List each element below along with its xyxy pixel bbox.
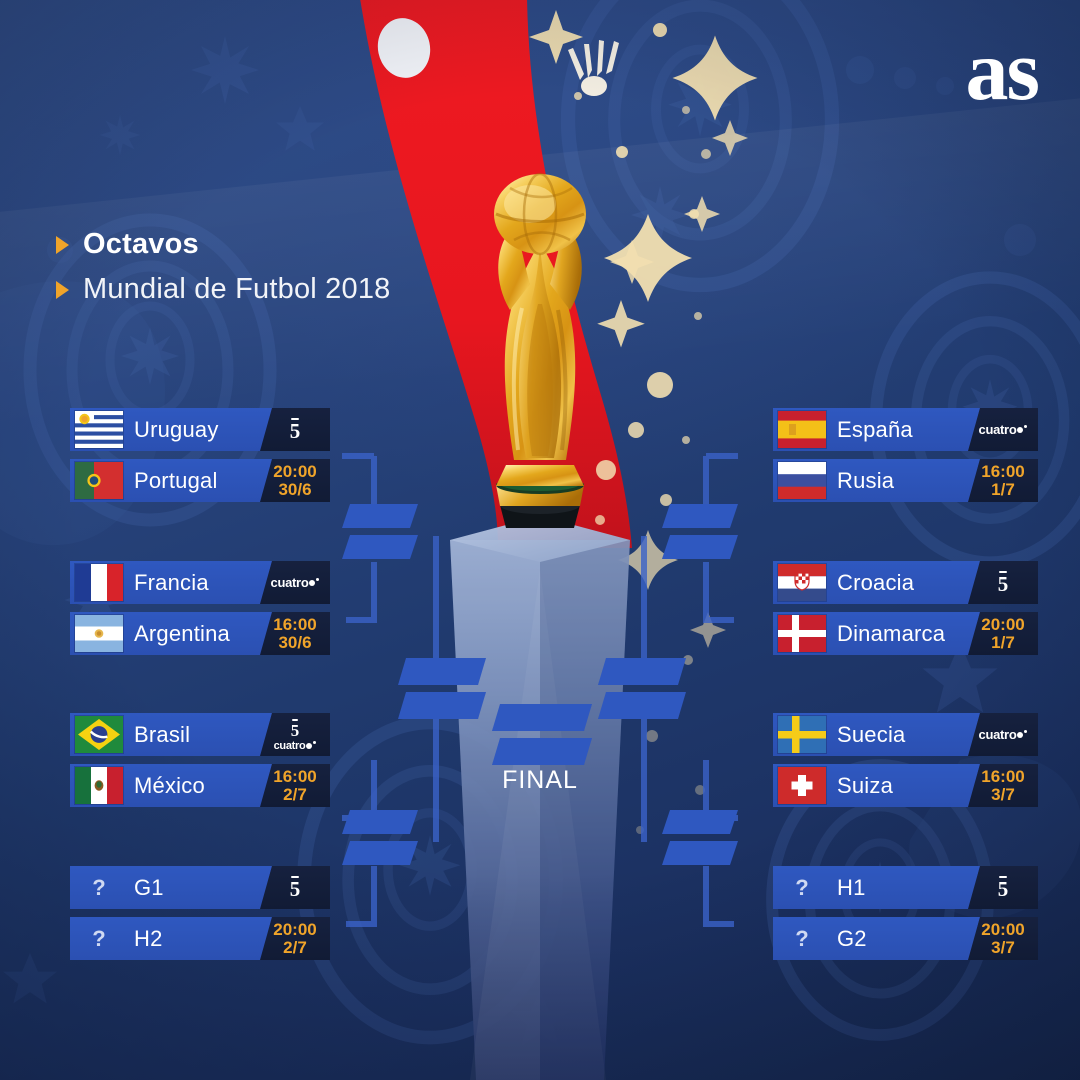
match-card-right-1[interactable]: España cuatro Rusia 16:001/7	[773, 408, 1038, 502]
mexico-flag	[75, 767, 123, 804]
qf-slot[interactable]	[662, 810, 738, 834]
team-name: H2	[134, 917, 163, 960]
cuatro-channel-logo: cuatro	[979, 422, 1028, 437]
team-name: México	[134, 764, 205, 807]
broadcast-channels: 5	[290, 417, 301, 442]
team-name: Portugal	[134, 459, 218, 502]
spain-flag	[778, 411, 826, 448]
match-team-row[interactable]: Portugal 20:0030/6	[70, 459, 330, 502]
match-kickoff: 16:0030/6	[273, 616, 316, 651]
sweden-flag	[778, 716, 826, 753]
cuatro-channel-logo: cuatro	[274, 740, 317, 752]
match-team-row[interactable]: Dinamarca 20:001/7	[773, 612, 1038, 655]
match-kickoff: 16:001/7	[981, 463, 1024, 498]
match-team-row[interactable]: Croacia 5	[773, 561, 1038, 604]
cuatro-tick-icon	[316, 578, 319, 581]
match-info-panel: 16:001/7	[968, 459, 1038, 502]
sf-slot[interactable]	[398, 692, 486, 719]
match-info-panel: 20:001/7	[968, 612, 1038, 655]
cuatro-tick-icon	[1024, 425, 1027, 428]
denmark-flag	[778, 615, 826, 652]
telecinco-channel-logo: 5	[290, 417, 301, 442]
team-name: G1	[134, 866, 164, 909]
portugal-flag	[75, 462, 123, 499]
sf-slot[interactable]	[398, 658, 486, 685]
headline-block: Octavos Mundial de Futbol 2018	[56, 228, 391, 306]
qf-slot[interactable]	[342, 535, 418, 559]
switzerland-flag	[778, 767, 826, 804]
match-info-panel: cuatro	[968, 713, 1038, 756]
match-team-row[interactable]: Suecia cuatro	[773, 713, 1038, 756]
match-info-panel: 5	[260, 866, 330, 909]
cuatro-channel-logo: cuatro	[271, 575, 320, 590]
qf-slot-pair-right-bottom[interactable]	[662, 810, 738, 865]
sf-slot-pair-left[interactable]	[398, 658, 486, 719]
match-team-row[interactable]: Francia cuatro	[70, 561, 330, 604]
match-kickoff: 20:002/7	[273, 921, 316, 956]
final-slot[interactable]	[492, 738, 592, 765]
match-team-row[interactable]: Brasil 5cuatro	[70, 713, 330, 756]
cuatro-dot-icon	[1017, 427, 1023, 433]
broadcast-channels: cuatro	[979, 422, 1028, 437]
cuatro-dot-icon	[306, 743, 312, 749]
qf-slot[interactable]	[342, 810, 418, 834]
broadcast-channels: cuatro	[271, 575, 320, 590]
match-info-panel: 16:002/7	[260, 764, 330, 807]
unknown-team-placeholder-icon: ?	[778, 869, 826, 906]
match-team-row[interactable]: Argentina 16:0030/6	[70, 612, 330, 655]
cuatro-dot-icon	[309, 580, 315, 586]
telecinco-channel-logo: 5	[998, 875, 1009, 900]
qf-slot[interactable]	[662, 535, 738, 559]
match-kickoff: 16:003/7	[981, 768, 1024, 803]
sf-slot-pair-right[interactable]	[598, 658, 686, 719]
match-team-row[interactable]: Suiza 16:003/7	[773, 764, 1038, 807]
match-team-row[interactable]: España cuatro	[773, 408, 1038, 451]
team-name: Brasil	[134, 713, 190, 756]
brazil-flag	[75, 716, 123, 753]
unknown-team-placeholder-icon: ?	[75, 920, 123, 957]
qf-slot[interactable]	[342, 504, 418, 528]
match-kickoff: 20:003/7	[981, 921, 1024, 956]
qf-slot-pair-left-bottom[interactable]	[342, 810, 418, 865]
match-team-row[interactable]: ? G2 20:003/7	[773, 917, 1038, 960]
match-info-panel: 16:003/7	[968, 764, 1038, 807]
match-info-panel: 5cuatro	[260, 713, 330, 756]
team-name: Suecia	[837, 713, 905, 756]
match-info-panel: 16:0030/6	[260, 612, 330, 655]
match-card-left-2[interactable]: Francia cuatro Argentina 16:0030/6	[70, 561, 330, 655]
match-team-row[interactable]: Uruguay 5	[70, 408, 330, 451]
team-name: G2	[837, 917, 867, 960]
sf-slot[interactable]	[598, 692, 686, 719]
match-card-right-2[interactable]: Croacia 5 Dinamarca 20:001/7	[773, 561, 1038, 655]
final-slot-pair[interactable]	[492, 704, 592, 765]
match-card-right-3[interactable]: Suecia cuatro Suiza 16:003/7	[773, 713, 1038, 807]
team-name: Rusia	[837, 459, 894, 502]
as-logo: as	[966, 34, 1038, 108]
match-info-panel: 5	[968, 561, 1038, 604]
match-info-panel: 20:003/7	[968, 917, 1038, 960]
final-slot[interactable]	[492, 704, 592, 731]
cuatro-tick-icon	[313, 741, 316, 744]
match-card-left-3[interactable]: Brasil 5cuatro México 16:002/7	[70, 713, 330, 807]
match-info-panel: cuatro	[968, 408, 1038, 451]
telecinco-channel-logo: 5	[291, 718, 300, 739]
qf-slot-pair-left-top[interactable]	[342, 504, 418, 559]
match-team-row[interactable]: México 16:002/7	[70, 764, 330, 807]
uruguay-flag	[75, 411, 123, 448]
match-kickoff: 16:002/7	[273, 768, 316, 803]
qf-slot[interactable]	[662, 841, 738, 865]
match-card-left-1[interactable]: Uruguay 5 Portugal 20:0030/6	[70, 408, 330, 502]
qf-slot[interactable]	[342, 841, 418, 865]
match-info-panel: 20:002/7	[260, 917, 330, 960]
match-card-right-4[interactable]: ? H1 5 ? G2 20:003/7	[773, 866, 1038, 960]
broadcast-channels: 5	[998, 570, 1009, 595]
match-card-left-4[interactable]: ? G1 5 ? H2 20:002/7	[70, 866, 330, 960]
match-team-row[interactable]: Rusia 16:001/7	[773, 459, 1038, 502]
croatia-flag	[778, 564, 826, 601]
triangle-bullet-icon	[56, 281, 69, 299]
qf-slot-pair-right-top[interactable]	[662, 504, 738, 559]
russia-flag	[778, 462, 826, 499]
headline-row-1: Octavos	[56, 228, 391, 261]
infographic-canvas: as Octavos Mundial de Futbol 2018	[0, 0, 1080, 1080]
team-name: Francia	[134, 561, 209, 604]
qf-slot[interactable]	[662, 504, 738, 528]
match-info-panel: 5	[968, 866, 1038, 909]
broadcast-channels: 5cuatro	[274, 718, 317, 752]
france-flag	[75, 564, 123, 601]
match-info-panel: 5	[260, 408, 330, 451]
team-name: Uruguay	[134, 408, 219, 451]
cuatro-dot-icon	[1017, 732, 1023, 738]
match-kickoff: 20:001/7	[981, 616, 1024, 651]
broadcast-channels: cuatro	[979, 727, 1028, 742]
team-name: España	[837, 408, 913, 451]
cuatro-tick-icon	[1024, 730, 1027, 733]
telecinco-channel-logo: 5	[998, 570, 1009, 595]
unknown-team-placeholder-icon: ?	[778, 920, 826, 957]
team-name: Dinamarca	[837, 612, 945, 655]
match-team-row[interactable]: ? H2 20:002/7	[70, 917, 330, 960]
team-name: Croacia	[837, 561, 914, 604]
triangle-bullet-icon	[56, 236, 69, 254]
broadcast-channels: 5	[998, 875, 1009, 900]
match-info-panel: cuatro	[260, 561, 330, 604]
telecinco-channel-logo: 5	[290, 875, 301, 900]
broadcast-channels: 5	[290, 875, 301, 900]
argentina-flag	[75, 615, 123, 652]
unknown-team-placeholder-icon: ?	[75, 869, 123, 906]
team-name: Suiza	[837, 764, 893, 807]
match-team-row[interactable]: ? H1 5	[773, 866, 1038, 909]
team-name: Argentina	[134, 612, 230, 655]
headline-stage: Octavos	[83, 228, 199, 261]
match-team-row[interactable]: ? G1 5	[70, 866, 330, 909]
sf-slot[interactable]	[598, 658, 686, 685]
match-kickoff: 20:0030/6	[273, 463, 316, 498]
cuatro-channel-logo: cuatro	[979, 727, 1028, 742]
headline-row-2: Mundial de Futbol 2018	[56, 273, 391, 306]
match-info-panel: 20:0030/6	[260, 459, 330, 502]
headline-tournament: Mundial de Futbol 2018	[83, 273, 391, 306]
team-name: H1	[837, 866, 866, 909]
